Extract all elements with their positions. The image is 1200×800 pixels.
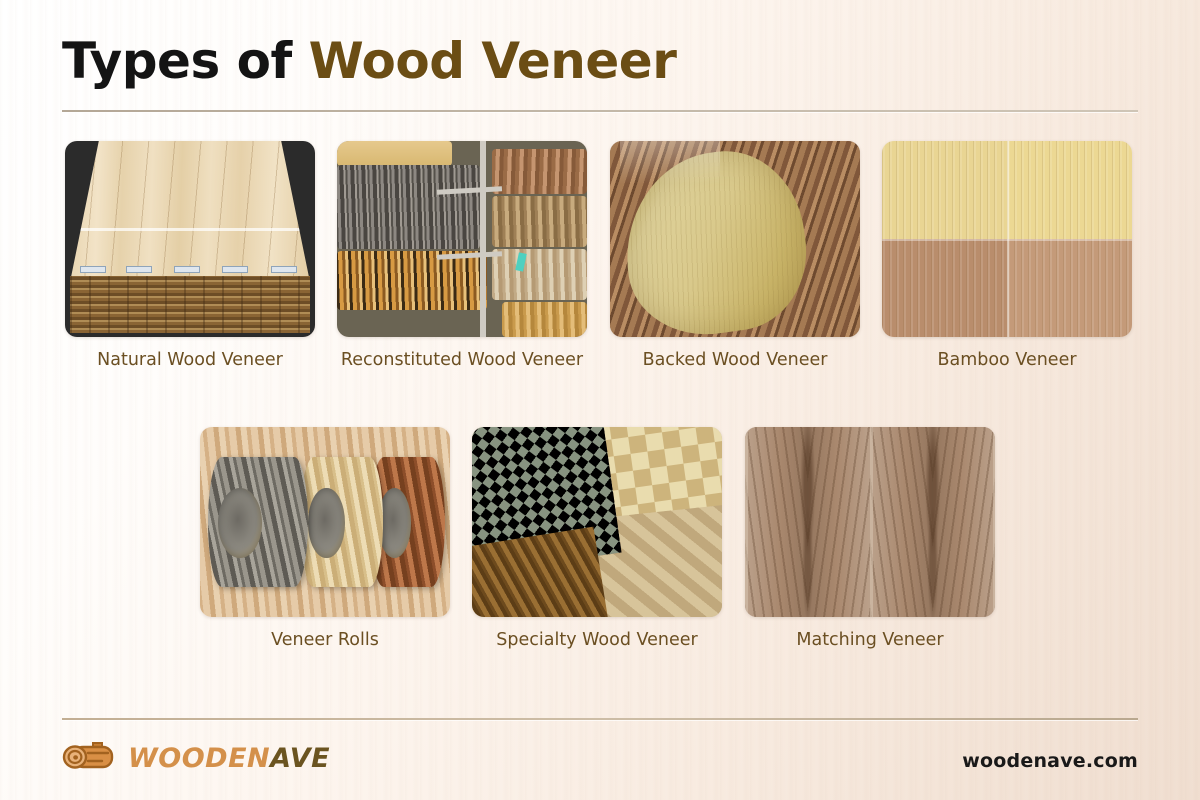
card-matching-veneer[interactable]: Matching Veneer: [745, 427, 995, 651]
image-reconstituted-wood-veneer: [337, 141, 587, 337]
card-reconstituted-wood-veneer[interactable]: Reconstituted Wood Veneer: [337, 141, 587, 371]
caption-reconstituted-wood-veneer: Reconstituted Wood Veneer: [337, 349, 587, 371]
title-prefix: Types of: [62, 32, 309, 90]
brand-logo[interactable]: WOODENAVE: [62, 740, 330, 776]
image-veneer-rolls: [200, 427, 450, 617]
card-specialty-wood-veneer[interactable]: Specialty Wood Veneer: [472, 427, 722, 651]
brand-name-part1: WOODEN: [128, 743, 270, 774]
caption-specialty-wood-veneer: Specialty Wood Veneer: [472, 629, 722, 651]
caption-backed-wood-veneer: Backed Wood Veneer: [610, 349, 860, 371]
image-natural-wood-veneer: [65, 141, 315, 337]
brand-logo-text: WOODENAVE: [128, 743, 330, 774]
caption-natural-wood-veneer: Natural Wood Veneer: [65, 349, 315, 371]
image-matching-veneer: [745, 427, 995, 617]
brand-name-part2: AVE: [270, 743, 330, 774]
image-bamboo-veneer: [882, 141, 1132, 337]
caption-veneer-rolls: Veneer Rolls: [200, 629, 450, 651]
title-highlight: Wood Veneer: [309, 32, 677, 90]
wood-log-icon: [62, 740, 118, 776]
infographic-content: Types of Wood Veneer Natural Wood Veneer: [0, 0, 1200, 800]
website-url[interactable]: woodenave.com: [962, 750, 1138, 772]
caption-bamboo-veneer: Bamboo Veneer: [882, 349, 1132, 371]
card-veneer-rolls[interactable]: Veneer Rolls: [200, 427, 450, 651]
image-specialty-wood-veneer: [472, 427, 722, 617]
card-backed-wood-veneer[interactable]: Backed Wood Veneer: [610, 141, 860, 371]
page-title: Types of Wood Veneer: [62, 32, 676, 90]
header-divider: [62, 110, 1138, 112]
image-backed-wood-veneer: [610, 141, 860, 337]
caption-matching-veneer: Matching Veneer: [745, 629, 995, 651]
card-bamboo-veneer[interactable]: Bamboo Veneer: [882, 141, 1132, 371]
card-natural-wood-veneer[interactable]: Natural Wood Veneer: [65, 141, 315, 371]
footer-divider: [62, 718, 1138, 720]
